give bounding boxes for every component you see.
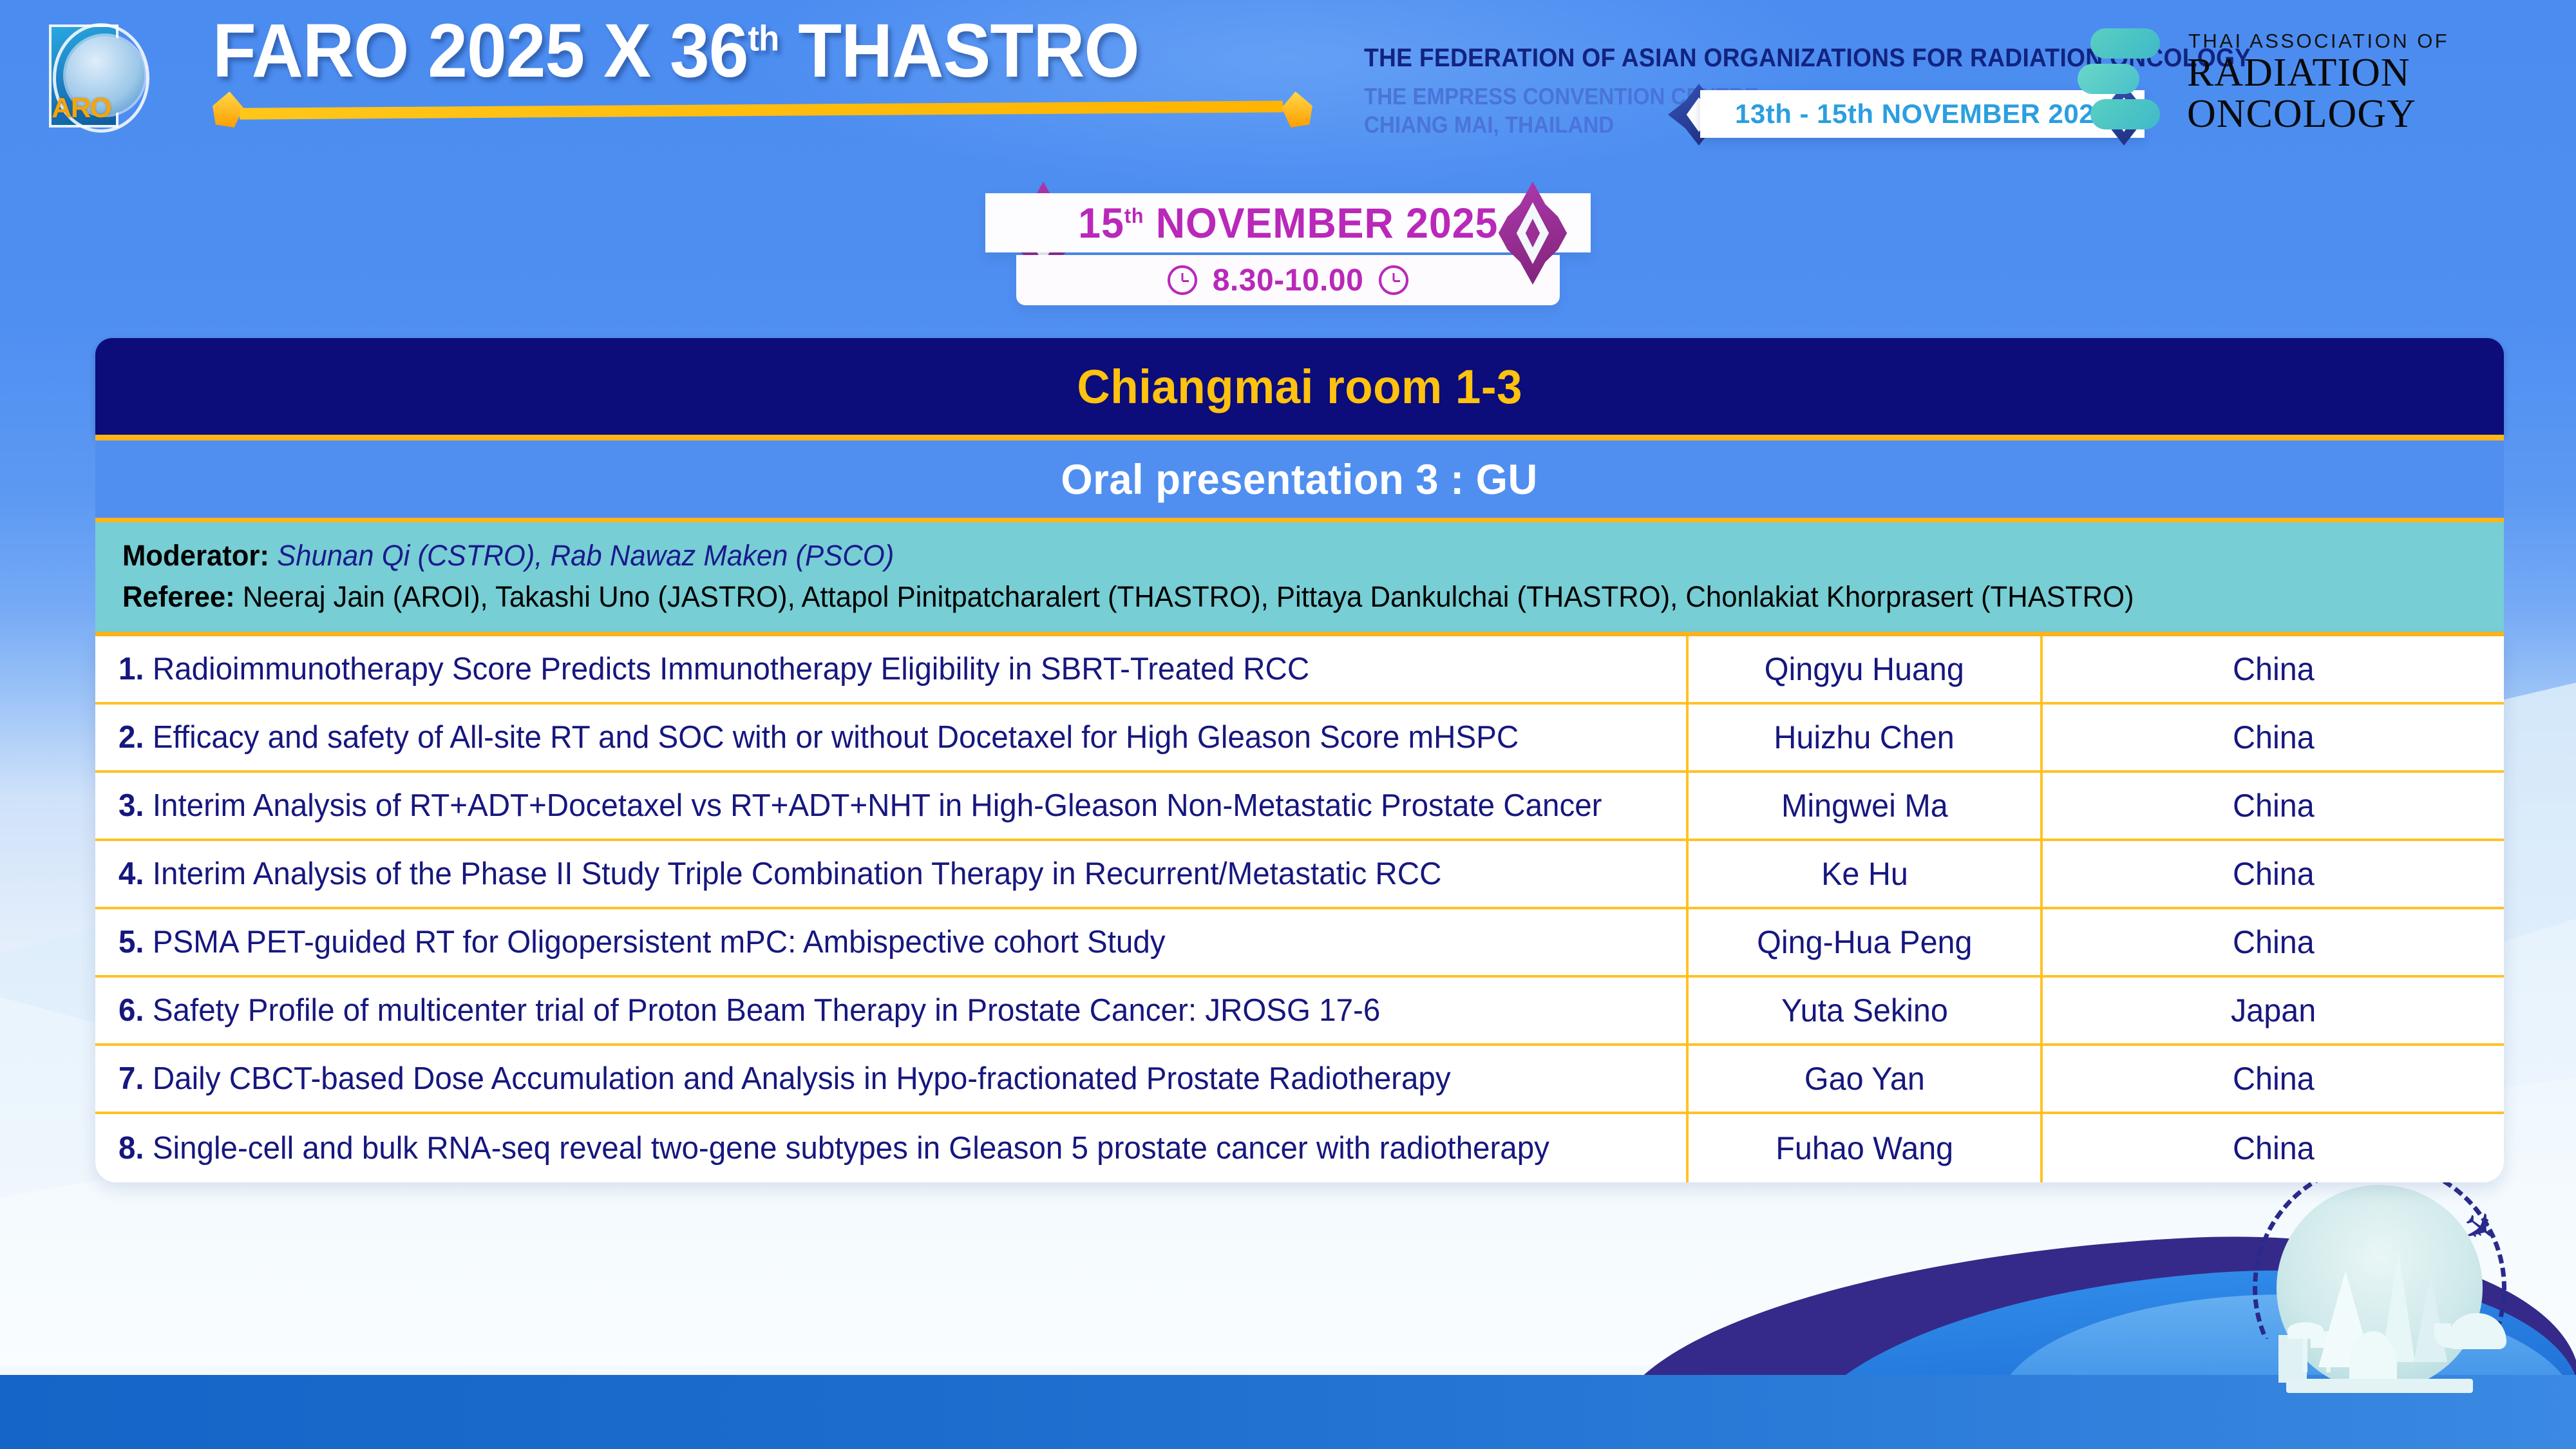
country-cell: China <box>2040 705 2504 770</box>
presentation-title-cell: 4. Interim Analysis of the Phase II Stud… <box>95 841 1686 907</box>
moderator-line: Moderator: Shunan Qi (CSTRO), Rab Nawaz … <box>122 535 2406 576</box>
gold-divider-rule <box>95 435 2504 440</box>
country-cell: China <box>2040 841 2504 907</box>
chiang-mai-landmark-illustration: ✈ <box>2241 1150 2518 1426</box>
presentation-title-cell: 6. Safety Profile of multicenter trial o… <box>95 978 1686 1043</box>
room-name: Chiangmai room 1-3 <box>1077 359 1522 414</box>
landmark-base-shape <box>2286 1379 2473 1393</box>
presentation-index: 4. <box>118 857 144 891</box>
thastro-line-2: RADIATION <box>2187 53 2410 93</box>
presentation-index: 5. <box>118 925 144 960</box>
background-bottom-band <box>0 1375 2576 1449</box>
presentation-title-text: 5. PSMA PET-guided RT for Oligopersisten… <box>118 924 1166 960</box>
country-name: China <box>2233 1130 2315 1167</box>
presenter-cell: Fuhao Wang <box>1686 1114 2040 1182</box>
country-cell: China <box>2040 773 2504 838</box>
clock-icon-left <box>1168 265 1197 295</box>
thastro-logo-mark <box>2087 27 2164 130</box>
presentation-index: 7. <box>118 1061 144 1096</box>
presentation-title-cell: 7. Daily CBCT-based Dose Accumulation an… <box>95 1046 1686 1112</box>
palm-tree-icon <box>2303 1332 2307 1372</box>
table-row: 7. Daily CBCT-based Dose Accumulation an… <box>95 1046 2504 1114</box>
presenter-cell: Qing-Hua Peng <box>1686 909 2040 975</box>
table-row: 2. Efficacy and safety of All-site RT an… <box>95 705 2504 773</box>
country-name: China <box>2233 787 2315 824</box>
referee-label: Referee: <box>122 580 235 613</box>
presentation-title-text: 2. Efficacy and safety of All-site RT an… <box>118 719 1519 755</box>
presentation-table: 1. Radioimmunotherapy Score Predicts Imm… <box>95 636 2504 1182</box>
table-row: 6. Safety Profile of multicenter trial o… <box>95 978 2504 1046</box>
country-cell: China <box>2040 636 2504 702</box>
event-title-ordinal: th <box>748 18 779 59</box>
session-date-banner: 15th NOVEMBER 2025 8.30-10.00 <box>985 175 1591 325</box>
presentation-title-text: 8. Single-cell and bulk RNA-seq reveal t… <box>118 1130 1549 1166</box>
presentation-index: 1. <box>118 652 144 687</box>
presenter-cell: Yuta Sekino <box>1686 978 2040 1043</box>
table-row: 1. Radioimmunotherapy Score Predicts Imm… <box>95 636 2504 705</box>
referee-line: Referee: Neeraj Jain (AROI), Takashi Uno… <box>122 576 2406 618</box>
thai-ornament-right-icon <box>1488 182 1578 285</box>
country-cell: China <box>2040 1114 2504 1182</box>
page-title: FARO 2025 X 36th THASTRO <box>213 13 1139 89</box>
presentation-title: Safety Profile of multicenter trial of P… <box>144 993 1381 1028</box>
presentation-title-text: 6. Safety Profile of multicenter trial o… <box>118 992 1380 1028</box>
presenter-name: Ke Hu <box>1821 855 1908 893</box>
session-time-strip: 8.30-10.00 <box>1016 255 1560 305</box>
presentation-title: Efficacy and safety of All-site RT and S… <box>144 720 1519 755</box>
thastro-blob-1 <box>2090 28 2160 59</box>
conference-date-text: 13th - 15th NOVEMBER 2025 <box>1735 99 2110 129</box>
presenter-name: Qing-Hua Peng <box>1757 923 1972 961</box>
country-cell: Japan <box>2040 978 2504 1043</box>
presentation-title-text: 3. Interim Analysis of RT+ADT+Docetaxel … <box>118 788 1602 824</box>
conference-date-chip: 13th - 15th NOVEMBER 2025 <box>1700 90 2145 138</box>
thastro-blob-2 <box>2078 64 2139 94</box>
moderator-names: Shunan Qi (CSTRO), Rab Nawaz Maken (PSCO… <box>277 539 894 572</box>
presenter-cell: Qingyu Huang <box>1686 636 2040 702</box>
presentation-title: PSMA PET-guided RT for Oligopersistent m… <box>144 925 1166 960</box>
session-day-number: 15 <box>1078 199 1124 247</box>
presenter-cell: Gao Yan <box>1686 1046 2040 1112</box>
country-name: China <box>2233 650 2315 688</box>
clock-icon-right <box>1379 265 1408 295</box>
session-title-bar: Oral presentation 3 : GU <box>95 440 2504 518</box>
presenter-cell: Ke Hu <box>1686 841 2040 907</box>
table-row: 4. Interim Analysis of the Phase II Stud… <box>95 841 2504 909</box>
presenter-cell: Huizhu Chen <box>1686 705 2040 770</box>
presentation-title: Interim Analysis of RT+ADT+Docetaxel vs … <box>144 788 1602 823</box>
session-time-text: 8.30-10.00 <box>1213 263 1364 298</box>
country-name: China <box>2233 719 2315 756</box>
event-title-tail: THASTRO <box>779 8 1139 93</box>
presentation-title-cell: 2. Efficacy and safety of All-site RT an… <box>95 705 1686 770</box>
presentation-title-cell: 3. Interim Analysis of RT+ADT+Docetaxel … <box>95 773 1686 838</box>
presentation-index: 3. <box>118 788 144 823</box>
presentation-title-text: 1. Radioimmunotherapy Score Predicts Imm… <box>118 651 1309 687</box>
thastro-line-1: THAI ASSOCIATION OF <box>2188 30 2449 53</box>
event-title-main: FARO 2025 X 36 <box>213 8 748 93</box>
country-name: China <box>2233 1060 2315 1097</box>
presenter-name: Fuhao Wang <box>1776 1130 1953 1167</box>
presenter-cell: Mingwei Ma <box>1686 773 2040 838</box>
presentation-index: 8. <box>118 1131 144 1166</box>
presentation-index: 2. <box>118 720 144 755</box>
session-card: Chiangmai room 1-3 Oral presentation 3 :… <box>95 338 2504 1182</box>
poster-header: ARO FARO 2025 X 36th THASTRO THE FEDERAT… <box>0 0 2576 158</box>
presentation-title-text: 4. Interim Analysis of the Phase II Stud… <box>118 856 1441 892</box>
temple-spire-shape <box>2414 1273 2447 1362</box>
flame-ornament-left-icon <box>213 91 243 128</box>
thastro-blob-3 <box>2090 99 2160 129</box>
thastro-logo: THAI ASSOCIATION OF RADIATION ONCOLOGY <box>2087 27 2537 133</box>
faro-logo: ARO <box>37 18 150 137</box>
presentation-title: Radioimmunotherapy Score Predicts Immuno… <box>144 652 1310 687</box>
country-name: China <box>2233 855 2315 893</box>
thastro-line-3: ONCOLOGY <box>2187 94 2416 134</box>
country-cell: China <box>2040 1046 2504 1112</box>
session-day-suffix: th <box>1124 204 1144 227</box>
presenter-name: Gao Yan <box>1804 1060 1925 1097</box>
flame-ornament-right-icon <box>1282 91 1312 128</box>
presentation-title-cell: 1. Radioimmunotherapy Score Predicts Imm… <box>95 636 1686 702</box>
presenter-name: Mingwei Ma <box>1781 787 1948 824</box>
table-row: 5. PSMA PET-guided RT for Oligopersisten… <box>95 909 2504 978</box>
table-row: 8. Single-cell and bulk RNA-seq reveal t… <box>95 1114 2504 1182</box>
presenter-name: Qingyu Huang <box>1765 650 1964 688</box>
table-row: 3. Interim Analysis of RT+ADT+Docetaxel … <box>95 773 2504 841</box>
country-name: China <box>2233 923 2315 961</box>
session-people-block: Moderator: Shunan Qi (CSTRO), Rab Nawaz … <box>95 518 2504 636</box>
presentation-title-cell: 5. PSMA PET-guided RT for Oligopersisten… <box>95 909 1686 975</box>
country-cell: China <box>2040 909 2504 975</box>
session-date-text: 15th NOVEMBER 2025 <box>1078 198 1498 247</box>
presentation-title: Interim Analysis of the Phase II Study T… <box>144 857 1442 891</box>
session-month-year: NOVEMBER 2025 <box>1144 199 1498 247</box>
faro-logo-text: ARO <box>52 92 111 124</box>
presentation-title-text: 7. Daily CBCT-based Dose Accumulation an… <box>118 1061 1451 1097</box>
referee-names: Neeraj Jain (AROI), Takashi Uno (JASTRO)… <box>243 580 2134 613</box>
title-underline-rule <box>240 100 1283 119</box>
country-name: Japan <box>2231 992 2316 1029</box>
presentation-title-cell: 8. Single-cell and bulk RNA-seq reveal t… <box>95 1114 1686 1182</box>
session-title: Oral presentation 3 : GU <box>1061 455 1538 504</box>
room-header: Chiangmai room 1-3 <box>95 338 2504 435</box>
poster-canvas: ✈ ARO FARO 2025 X 36th THASTRO THE FEDER… <box>0 0 2576 1449</box>
presentation-title: Daily CBCT-based Dose Accumulation and A… <box>144 1061 1451 1096</box>
presentation-title: Single-cell and bulk RNA-seq reveal two-… <box>144 1131 1549 1166</box>
moderator-label: Moderator: <box>122 539 269 572</box>
presenter-name: Yuta Sekino <box>1781 992 1948 1029</box>
presenter-name: Huizhu Chen <box>1774 719 1955 756</box>
presentation-index: 6. <box>118 993 144 1028</box>
